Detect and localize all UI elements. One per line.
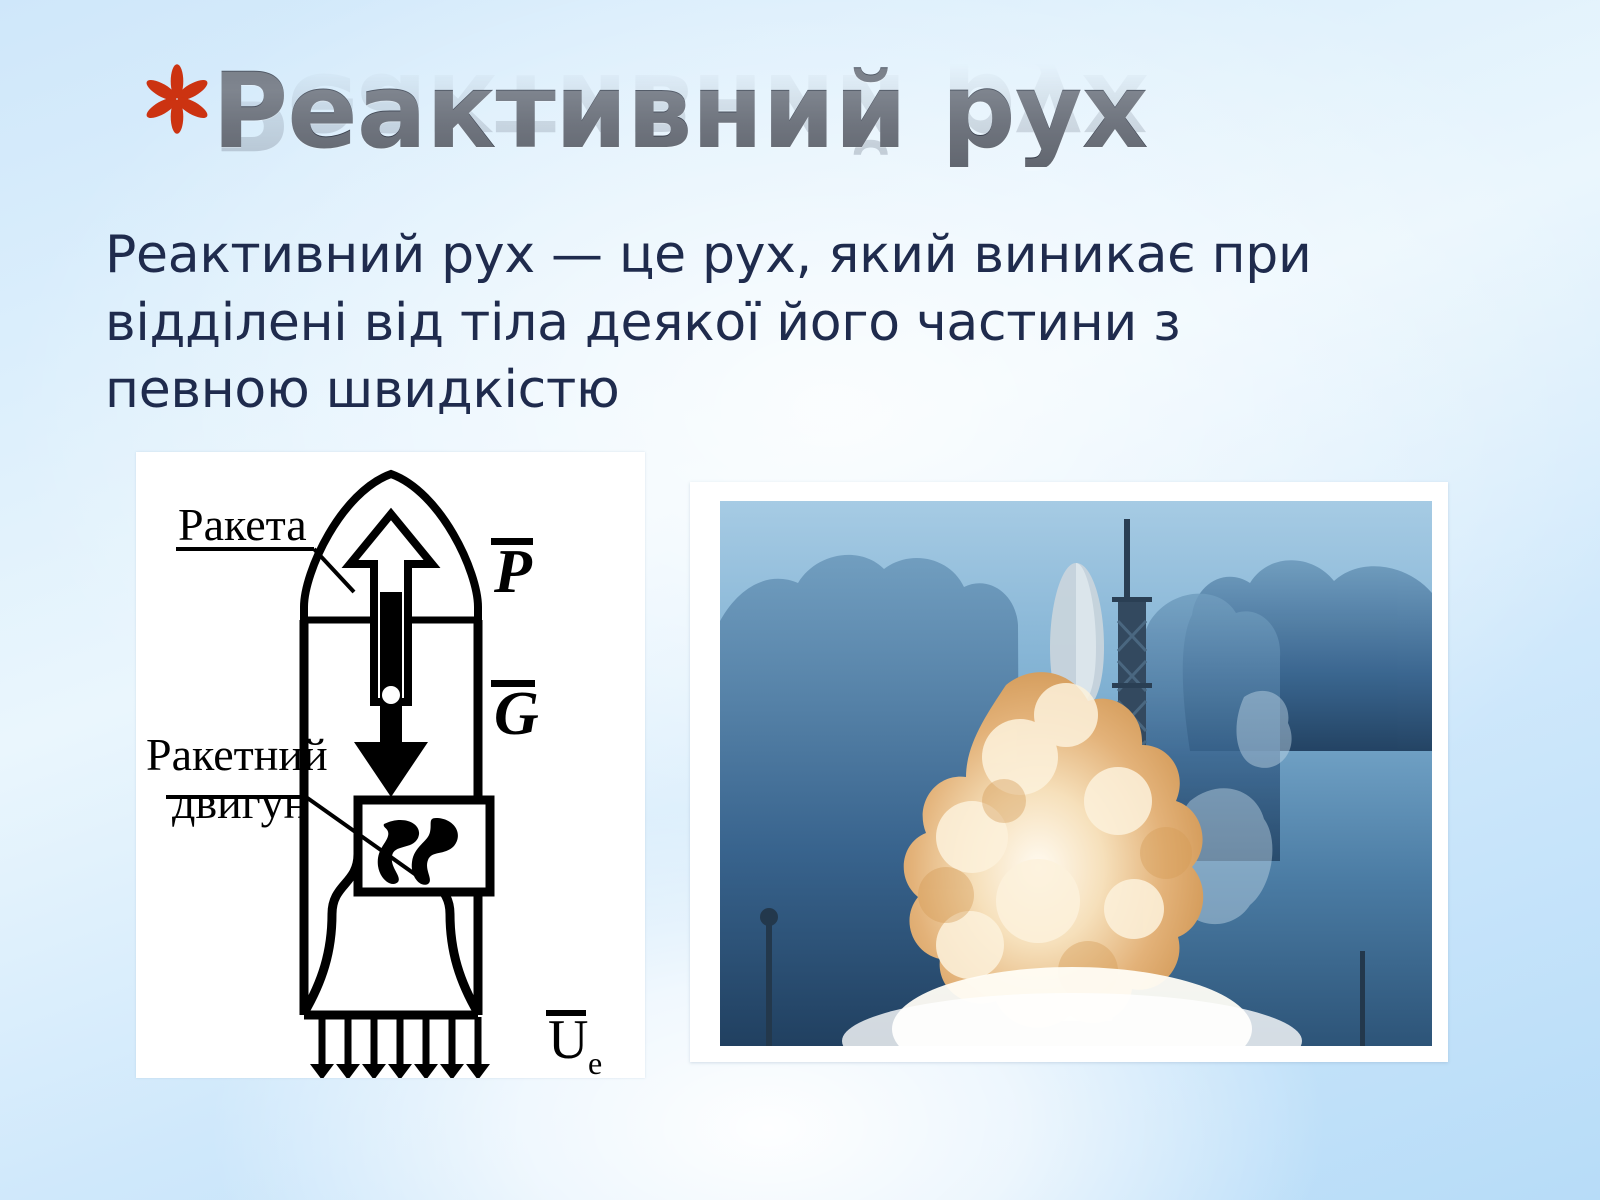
diagram-vector-label-g: G [491,680,539,748]
diagram-label-engine-line2: двигун [172,777,308,828]
slide-title-block: Реактивний рух Реактивний рух [140,55,1380,245]
svg-text:P: P [493,538,533,606]
asterisk-icon [140,62,214,136]
slide-body-text: Реактивний рух — це рух, який виникає пр… [105,222,1345,425]
page-title: Реактивний рух [212,55,1148,167]
rocket-thrust-diagram: Ракета Ракетний двигун P G U e [136,452,645,1078]
diagram-label-engine-line1: Ракетний [146,729,328,780]
svg-text:G: G [494,680,539,748]
presentation-slide: Реактивний рух Реактивний рух Реактивний… [0,0,1600,1200]
rocket-launch-photo-frame [690,482,1448,1062]
diagram-label-rocket: Ракета [178,499,307,550]
svg-text:U: U [548,1009,588,1071]
svg-text:e: e [588,1045,602,1078]
diagram-vector-label-p: P [491,538,533,606]
rocket-launch-photo [720,501,1432,1046]
